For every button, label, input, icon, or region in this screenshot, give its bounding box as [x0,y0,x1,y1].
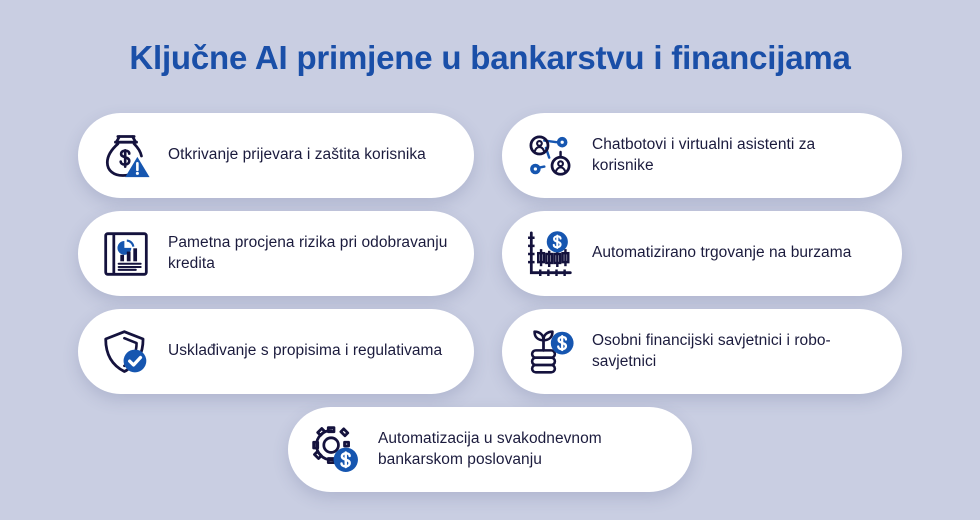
card-row-3: Usklađivanje s propisima i regulativama [78,309,902,394]
shield-check-icon [98,324,154,380]
report-chart-icon [98,226,154,282]
card-compliance[interactable]: Usklađivanje s propisima i regulativama [78,309,474,394]
card-label: Automatizirano trgovanje na burzama [592,243,851,264]
page-title: Ključne AI primjene u bankarstvu i finan… [0,38,980,78]
card-credit-risk[interactable]: Pametna procjena rizika pri odobravanju … [78,211,474,296]
card-label: Automatizacija u svakodnevnom bankarskom… [378,429,670,471]
card-label: Pametna procjena rizika pri odobravanju … [168,233,452,275]
gear-dollar-icon [308,422,364,478]
card-label: Chatbotovi i virtualni asistenti za kori… [592,135,880,177]
card-label: Usklađivanje s propisima i regulativama [168,341,442,362]
card-back-office-automation[interactable]: Automatizacija u svakodnevnom bankarskom… [288,407,692,492]
slide-canvas: Ključne AI primjene u bankarstvu i finan… [0,0,980,520]
card-algo-trading[interactable]: Automatizirano trgovanje na burzama [502,211,902,296]
card-chatbots[interactable]: Chatbotovi i virtualni asistenti za kori… [502,113,902,198]
plant-coins-dollar-icon [522,324,578,380]
card-row-2: Pametna procjena rizika pri odobravanju … [78,211,902,296]
card-label: Otkrivanje prijevara i zaštita korisnika [168,145,426,166]
card-row-4: Automatizacija u svakodnevnom bankarskom… [78,407,902,492]
card-fraud-detection[interactable]: Otkrivanje prijevara i zaštita korisnika [78,113,474,198]
money-bag-warning-icon [98,128,154,184]
network-users-icon [522,128,578,184]
card-row-1: Otkrivanje prijevara i zaštita korisnika [78,113,902,198]
card-robo-advisors[interactable]: Osobni financijski savjetnici i robo-sav… [502,309,902,394]
card-label: Osobni financijski savjetnici i robo-sav… [592,331,880,373]
candlestick-dollar-icon [522,226,578,282]
cards-grid: Otkrivanje prijevara i zaštita korisnika [78,113,902,492]
